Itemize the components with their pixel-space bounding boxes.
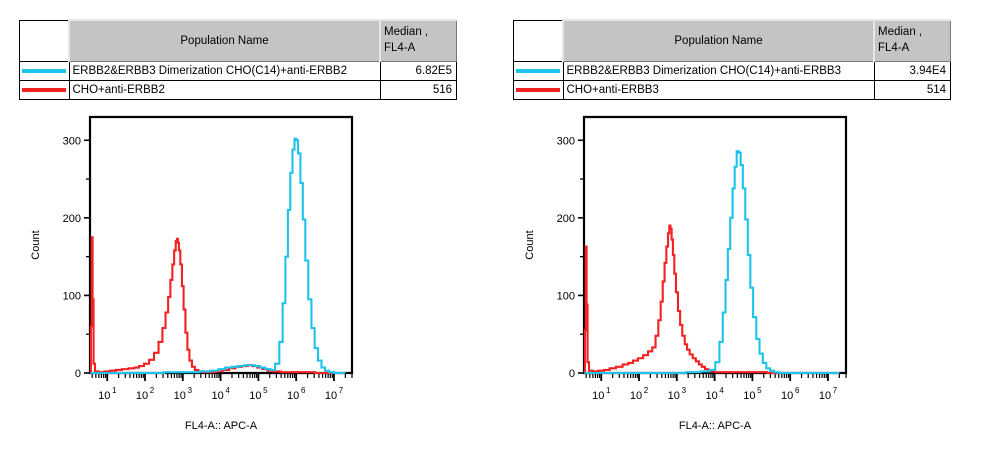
- median-value-cell: 514: [874, 81, 951, 100]
- y-axis: 0100200300: [557, 135, 584, 380]
- statistics-table-left: Population Name Median , FL4-A ERBB2&ERB…: [19, 19, 457, 100]
- table-header-row: Population Name Median , FL4-A: [20, 20, 457, 62]
- header-median-line1: Median ,: [878, 26, 922, 38]
- population-name-cell: CHO+anti-ERBB3: [563, 81, 874, 100]
- panel-left: Population Name Median , FL4-A ERBB2&ERB…: [0, 0, 494, 456]
- y-tick-label: 100: [63, 290, 81, 302]
- y-tick-label: 0: [569, 368, 575, 380]
- x-tick-exponent: 3: [682, 386, 687, 395]
- x-tick-exponent: 5: [263, 386, 268, 395]
- swatch-cell: [514, 62, 564, 81]
- x-tick-label: 10: [325, 390, 337, 402]
- histogram-svg: 0100200300Count101102103104105106107FL4-…: [19, 110, 479, 450]
- x-tick-labels: 101102103104105106107: [592, 386, 838, 402]
- red-line-swatch: [516, 88, 560, 92]
- histogram-curve: [584, 226, 839, 373]
- swatch-cell: [514, 81, 564, 100]
- x-tick-exponent: 4: [225, 386, 230, 395]
- x-axis-title: FL4-A:: APC-A: [679, 420, 752, 432]
- y-tick-label: 300: [557, 135, 575, 147]
- histogram-curve: [90, 139, 345, 373]
- header-cell-population-name: Population Name: [563, 20, 874, 62]
- header-cell-swatch: [514, 20, 564, 62]
- y-tick-label: 100: [557, 290, 575, 302]
- y-axis: 0100200300: [63, 135, 90, 380]
- x-axis: [586, 373, 846, 381]
- axes-frame: [584, 117, 846, 373]
- table-header-row: Population Name Median , FL4-A: [514, 20, 951, 62]
- statistics-table-right: Population Name Median , FL4-A ERBB2&ERB…: [513, 19, 951, 100]
- histogram-curve: [90, 237, 345, 373]
- histogram-plot-right: 0100200300Count101102103104105106107FL4-…: [513, 110, 973, 450]
- x-axis-title: FL4-A:: APC-A: [185, 420, 258, 432]
- x-tick-label: 10: [174, 390, 186, 402]
- x-tick-exponent: 5: [757, 386, 762, 395]
- swatch-cell: [20, 62, 70, 81]
- header-cell-population-name: Population Name: [69, 20, 380, 62]
- x-tick-label: 10: [211, 390, 223, 402]
- x-tick-label: 10: [705, 390, 717, 402]
- x-tick-exponent: 7: [833, 386, 838, 395]
- axes-frame: [90, 117, 352, 373]
- table-header: Population Name Median , FL4-A: [514, 20, 951, 62]
- y-axis-title: Count: [524, 230, 536, 259]
- population-name-cell: CHO+anti-ERBB2: [69, 81, 380, 100]
- population-name-cell: ERBB2&ERBB3 Dimerization CHO(C14)+anti-E…: [69, 62, 380, 81]
- median-value-cell: 516: [380, 81, 457, 100]
- x-tick-labels: 101102103104105106107: [98, 386, 344, 402]
- y-axis-title: Count: [30, 230, 42, 259]
- x-tick-label: 10: [668, 390, 680, 402]
- x-tick-exponent: 1: [112, 386, 117, 395]
- x-axis: [92, 373, 352, 381]
- header-median-line1: Median ,: [384, 26, 428, 38]
- header-cell-median: Median , FL4-A: [380, 20, 457, 62]
- y-tick-label: 200: [63, 213, 81, 225]
- y-tick-label: 0: [75, 368, 81, 380]
- x-tick-label: 10: [287, 390, 299, 402]
- median-value-cell: 6.82E5: [380, 62, 457, 81]
- x-tick-label: 10: [743, 390, 755, 402]
- histogram-plot-left: 0100200300Count101102103104105106107FL4-…: [19, 110, 479, 450]
- y-tick-label: 200: [557, 213, 575, 225]
- swatch-cell: [20, 81, 70, 100]
- table-row: CHO+anti-ERBB3 514: [514, 81, 951, 100]
- x-tick-exponent: 4: [719, 386, 724, 395]
- axes-box: [90, 117, 352, 373]
- table-header: Population Name Median , FL4-A: [20, 20, 457, 62]
- x-tick-exponent: 6: [795, 386, 800, 395]
- x-tick-exponent: 1: [606, 386, 611, 395]
- x-tick-exponent: 2: [644, 386, 649, 395]
- axes-box: [584, 117, 846, 373]
- table-body: ERBB2&ERBB3 Dimerization CHO(C14)+anti-E…: [20, 62, 457, 100]
- x-tick-exponent: 2: [150, 386, 155, 395]
- x-tick-exponent: 7: [339, 386, 344, 395]
- header-median-line2: FL4-A: [878, 41, 950, 57]
- x-tick-exponent: 6: [301, 386, 306, 395]
- population-name-cell: ERBB2&ERBB3 Dimerization CHO(C14)+anti-E…: [563, 62, 874, 81]
- x-tick-label: 10: [592, 390, 604, 402]
- header-median-line2: FL4-A: [384, 41, 456, 57]
- x-tick-label: 10: [819, 390, 831, 402]
- panel-right: Population Name Median , FL4-A ERBB2&ERB…: [494, 0, 988, 456]
- median-value-cell: 3.94E4: [874, 62, 951, 81]
- x-tick-label: 10: [98, 390, 110, 402]
- x-tick-exponent: 3: [188, 386, 193, 395]
- x-tick-label: 10: [136, 390, 148, 402]
- table-row: ERBB2&ERBB3 Dimerization CHO(C14)+anti-E…: [514, 62, 951, 81]
- cyan-line-swatch: [22, 69, 66, 73]
- table-row: CHO+anti-ERBB2 516: [20, 81, 457, 100]
- histogram-svg: 0100200300Count101102103104105106107FL4-…: [513, 110, 973, 450]
- x-tick-label: 10: [630, 390, 642, 402]
- histogram-curve: [584, 151, 839, 373]
- x-tick-label: 10: [249, 390, 261, 402]
- header-cell-median: Median , FL4-A: [874, 20, 951, 62]
- red-line-swatch: [22, 88, 66, 92]
- table-row: ERBB2&ERBB3 Dimerization CHO(C14)+anti-E…: [20, 62, 457, 81]
- header-cell-swatch: [20, 20, 70, 62]
- y-tick-label: 300: [63, 135, 81, 147]
- cyan-line-swatch: [516, 69, 560, 73]
- x-tick-label: 10: [781, 390, 793, 402]
- table-body: ERBB2&ERBB3 Dimerization CHO(C14)+anti-E…: [514, 62, 951, 100]
